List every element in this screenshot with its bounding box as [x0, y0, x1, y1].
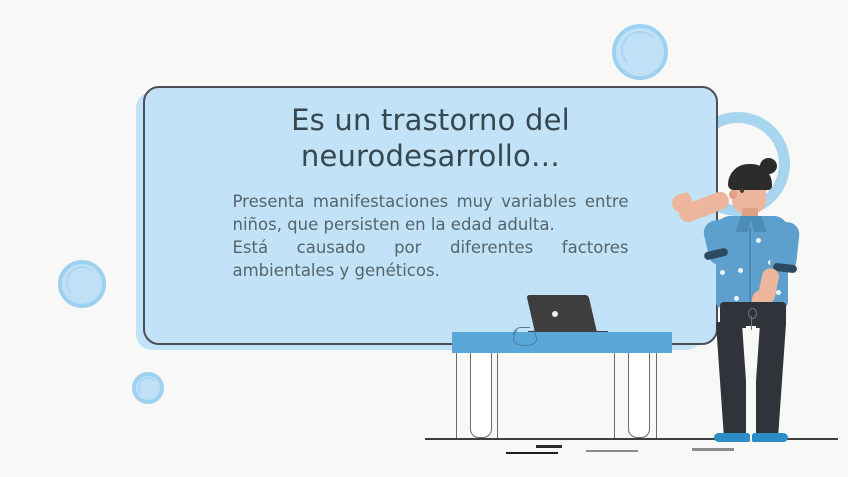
character-ear — [729, 190, 737, 199]
slide-canvas: Es un trastorno del neurodesarrollo… Pre… — [0, 0, 848, 477]
character-drawstring — [751, 316, 752, 330]
content-card: Es un trastorno del neurodesarrollo… Pre… — [145, 88, 716, 343]
desk-accessory-icon — [513, 326, 537, 346]
shirt-dot — [776, 290, 781, 295]
body-paragraph-2: Está causado por diferentes factores amb… — [233, 236, 629, 282]
shirt-dot — [738, 268, 743, 273]
body-paragraph-1: Presenta manifestaciones muy variables e… — [233, 190, 629, 236]
page-title: Es un trastorno del neurodesarrollo… — [236, 102, 626, 174]
character-illustration — [676, 150, 816, 442]
card-body-text: Presenta manifestaciones muy variables e… — [233, 190, 629, 282]
character-eye — [740, 188, 744, 193]
shirt-dot — [720, 270, 725, 275]
shirt-dot — [756, 238, 761, 243]
laptop-logo-icon — [552, 311, 558, 317]
desk-leg — [656, 353, 657, 438]
desk-leg — [497, 353, 498, 438]
desk-leg — [470, 353, 492, 438]
desk-leg — [456, 353, 457, 438]
character-shoe-left — [714, 433, 750, 442]
desk-leg — [628, 353, 650, 438]
bubble-decoration-top-right — [612, 24, 668, 80]
desk-leg — [614, 353, 615, 438]
ground-dash — [692, 448, 734, 451]
ground-dash — [586, 450, 638, 452]
ground-dash — [536, 445, 562, 448]
bubble-decoration-bottom — [132, 372, 164, 404]
bubble-decoration-left — [58, 260, 106, 308]
ground-dash — [506, 452, 558, 454]
character-leg-gap — [746, 326, 756, 442]
character-leg-right — [752, 322, 786, 440]
character-drawstring — [748, 308, 757, 319]
laptop-screen — [526, 295, 597, 335]
shirt-dot — [734, 296, 739, 301]
character-shirt-placket — [749, 228, 751, 308]
desk-surface — [452, 332, 672, 353]
character-shoe-right — [752, 433, 788, 442]
character-leg-left — [716, 322, 750, 440]
